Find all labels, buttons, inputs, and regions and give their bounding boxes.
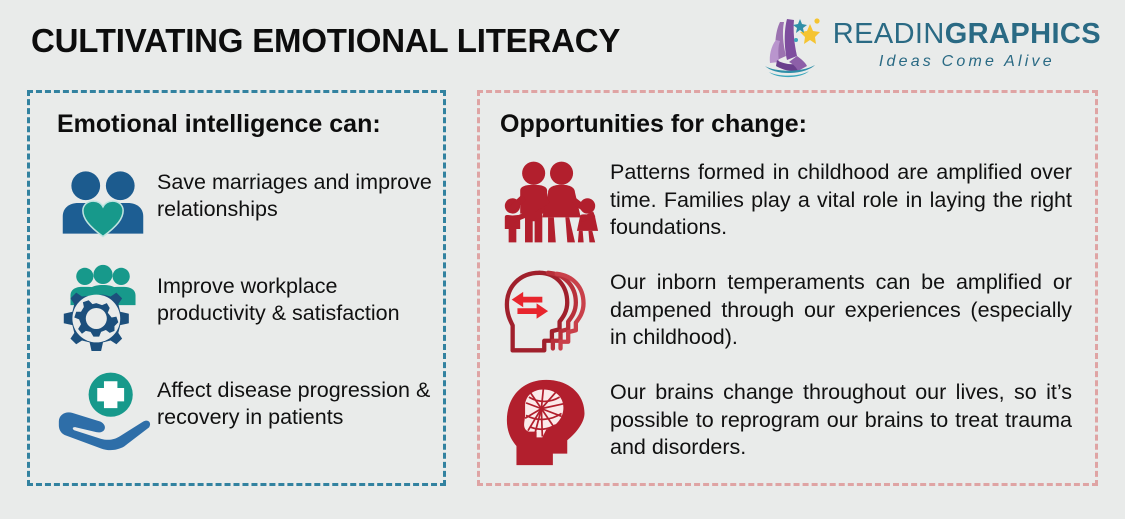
logo-tagline: Ideas Come Alive bbox=[833, 53, 1101, 71]
list-item-label: Our brains change throughout our lives, … bbox=[602, 373, 1072, 462]
list-item-label: Improve workplace productivity & satisfa… bbox=[151, 261, 443, 328]
heads-exchange-arrows-icon bbox=[498, 263, 602, 363]
list-item: Affect disease progression & recovery in… bbox=[30, 359, 443, 463]
logo-wordmark: READINGRAPHICS bbox=[833, 19, 1101, 49]
logo-word-reading: READIN bbox=[833, 18, 945, 50]
page-title: CULTIVATING EMOTIONAL LITERACY bbox=[31, 22, 620, 60]
right-panel-items: Patterns formed in childhood are amplifi… bbox=[480, 151, 1095, 481]
list-item: Our inborn temperaments can be amplified… bbox=[480, 261, 1095, 371]
two-people-heart-icon bbox=[55, 157, 151, 249]
right-panel-heading: Opportunities for change: bbox=[500, 110, 1095, 139]
hand-medical-cross-icon bbox=[55, 365, 151, 457]
infographic-page: CULTIVATING EMOTIONAL LITERACY bbox=[0, 0, 1125, 519]
list-item-label: Save marriages and improve relationships bbox=[151, 157, 443, 224]
list-item: Save marriages and improve relationships bbox=[30, 151, 443, 255]
list-item-label: Patterns formed in childhood are amplifi… bbox=[602, 153, 1072, 242]
left-panel-heading: Emotional intelligence can: bbox=[57, 110, 443, 139]
emotional-intelligence-panel: Emotional intelligence can: Save marriag… bbox=[27, 90, 446, 486]
readingraphics-logo: READINGRAPHICS Ideas Come Alive bbox=[753, 8, 1101, 82]
book-wings-stars-logo-icon bbox=[753, 10, 827, 80]
list-item: Improve workplace productivity & satisfa… bbox=[30, 255, 443, 359]
head-brain-icon bbox=[498, 373, 602, 473]
family-four-people-icon bbox=[498, 153, 602, 253]
list-item-label: Affect disease progression & recovery in… bbox=[151, 365, 443, 432]
list-item: Patterns formed in childhood are amplifi… bbox=[480, 151, 1095, 261]
header: CULTIVATING EMOTIONAL LITERACY bbox=[0, 0, 1125, 88]
logo-word-graphics: GRAPHICS bbox=[945, 18, 1101, 50]
logo-text: READINGRAPHICS Ideas Come Alive bbox=[833, 19, 1101, 70]
list-item-label: Our inborn temperaments can be amplified… bbox=[602, 263, 1072, 352]
list-item: Our brains change throughout our lives, … bbox=[480, 371, 1095, 481]
left-panel-items: Save marriages and improve relationships bbox=[30, 151, 443, 463]
opportunities-for-change-panel: Opportunities for change: bbox=[477, 90, 1098, 486]
people-gear-icon bbox=[55, 261, 151, 353]
